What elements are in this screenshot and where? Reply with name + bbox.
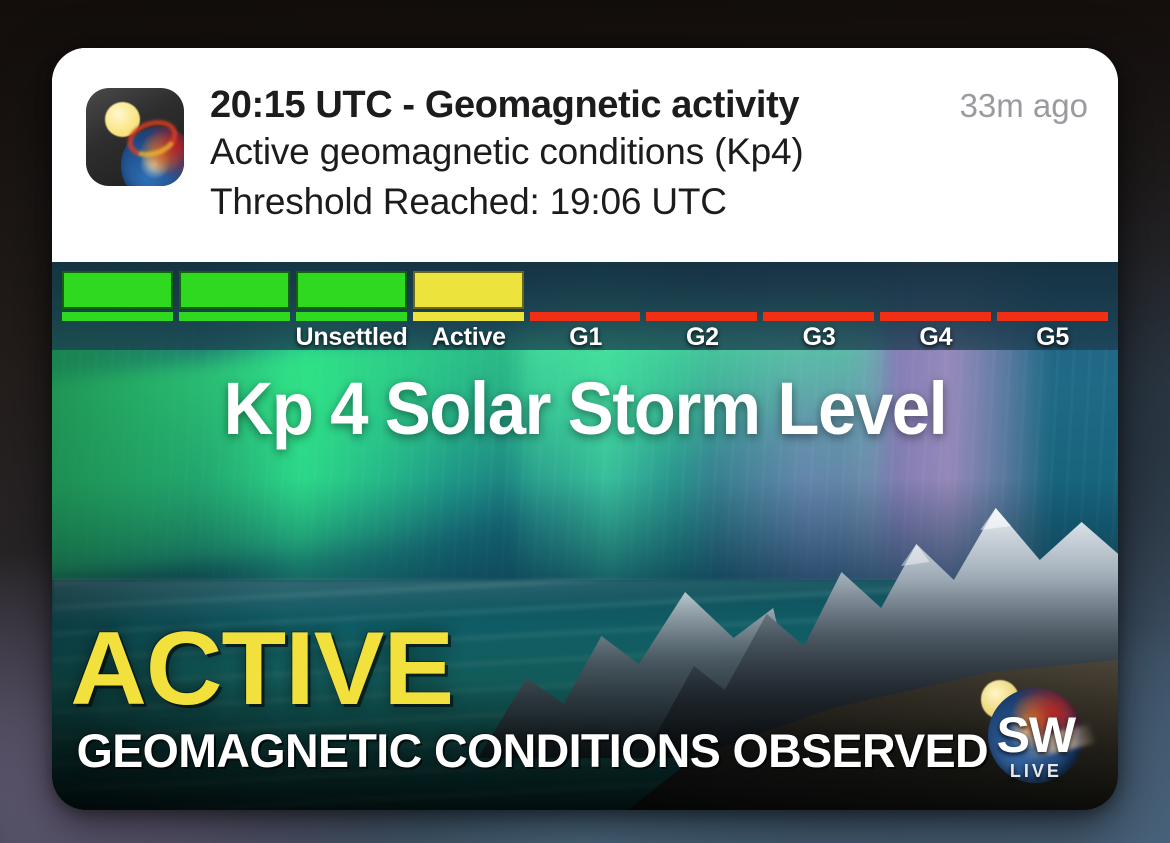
kp-segment-underline xyxy=(880,312,991,321)
notification-timestamp: 33m ago xyxy=(942,87,1088,125)
kp-segment-underline xyxy=(413,312,524,321)
kp-segment-underline xyxy=(530,312,641,321)
notification-title-row: 20:15 UTC - Geomagnetic activity 33m ago xyxy=(210,84,1088,127)
kp-scale-segment[interactable] xyxy=(530,271,641,323)
kp-scale-label: G3 xyxy=(764,324,875,350)
kp-scale-label: G2 xyxy=(647,324,758,350)
status-subtitle: GEOMAGNETIC CONDITIONS OBSERVED xyxy=(77,723,988,778)
kp-segment-underline xyxy=(296,312,407,321)
kp-scale-segment[interactable] xyxy=(763,271,874,323)
notification-header: 20:15 UTC - Geomagnetic activity 33m ago… xyxy=(52,48,1118,262)
logo-sub: LIVE xyxy=(968,762,1104,780)
notification-title: 20:15 UTC - Geomagnetic activity xyxy=(210,84,799,127)
status-badge: ACTIVE xyxy=(70,622,453,718)
kp-scale-label xyxy=(62,324,173,350)
notification-card[interactable]: 20:15 UTC - Geomagnetic activity 33m ago… xyxy=(52,48,1118,810)
page-title: Kp 4 Solar Storm Level xyxy=(89,366,1080,451)
kp-scale-segment[interactable] xyxy=(413,271,524,323)
kp-scale-segment[interactable] xyxy=(997,271,1108,323)
aurora-image: UnsettledActiveG1G2G3G4G5 Kp 4 Solar Sto… xyxy=(52,262,1118,810)
kp-segment-underline xyxy=(763,312,874,321)
kp-segment-block xyxy=(62,271,173,309)
kp-scale[interactable]: UnsettledActiveG1G2G3G4G5 xyxy=(52,262,1118,350)
kp-segment-block xyxy=(413,271,524,309)
sw-live-logo[interactable]: SW LIVE xyxy=(968,660,1096,788)
kp-scale-label: G5 xyxy=(997,324,1108,350)
kp-segment-underline xyxy=(62,312,173,321)
kp-segment-underline xyxy=(997,312,1108,321)
kp-scale-label: Active xyxy=(414,324,525,350)
logo-mark: SW xyxy=(968,710,1104,760)
notification-body-line-2: Threshold Reached: 19:06 UTC xyxy=(210,177,1088,227)
kp-scale-label: G4 xyxy=(881,324,992,350)
sun-earth-aurora-icon xyxy=(86,88,184,186)
notification-body-line-1: Active geomagnetic conditions (Kp4) xyxy=(210,127,1088,177)
kp-scale-label: Unsettled xyxy=(295,324,407,350)
kp-segment-block xyxy=(296,271,407,309)
notification-text-block: 20:15 UTC - Geomagnetic activity 33m ago… xyxy=(210,82,1088,227)
kp-scale-segment[interactable] xyxy=(880,271,991,323)
kp-scale-bars xyxy=(62,271,1108,323)
kp-scale-segment[interactable] xyxy=(62,271,173,323)
kp-scale-segment[interactable] xyxy=(646,271,757,323)
kp-scale-label: G1 xyxy=(530,324,641,350)
kp-scale-segment[interactable] xyxy=(296,271,407,323)
kp-segment-block xyxy=(179,271,290,309)
kp-segment-underline xyxy=(179,312,290,321)
kp-scale-label xyxy=(179,324,290,350)
kp-scale-segment[interactable] xyxy=(179,271,290,323)
kp-segment-underline xyxy=(646,312,757,321)
kp-scale-labels: UnsettledActiveG1G2G3G4G5 xyxy=(62,324,1108,350)
